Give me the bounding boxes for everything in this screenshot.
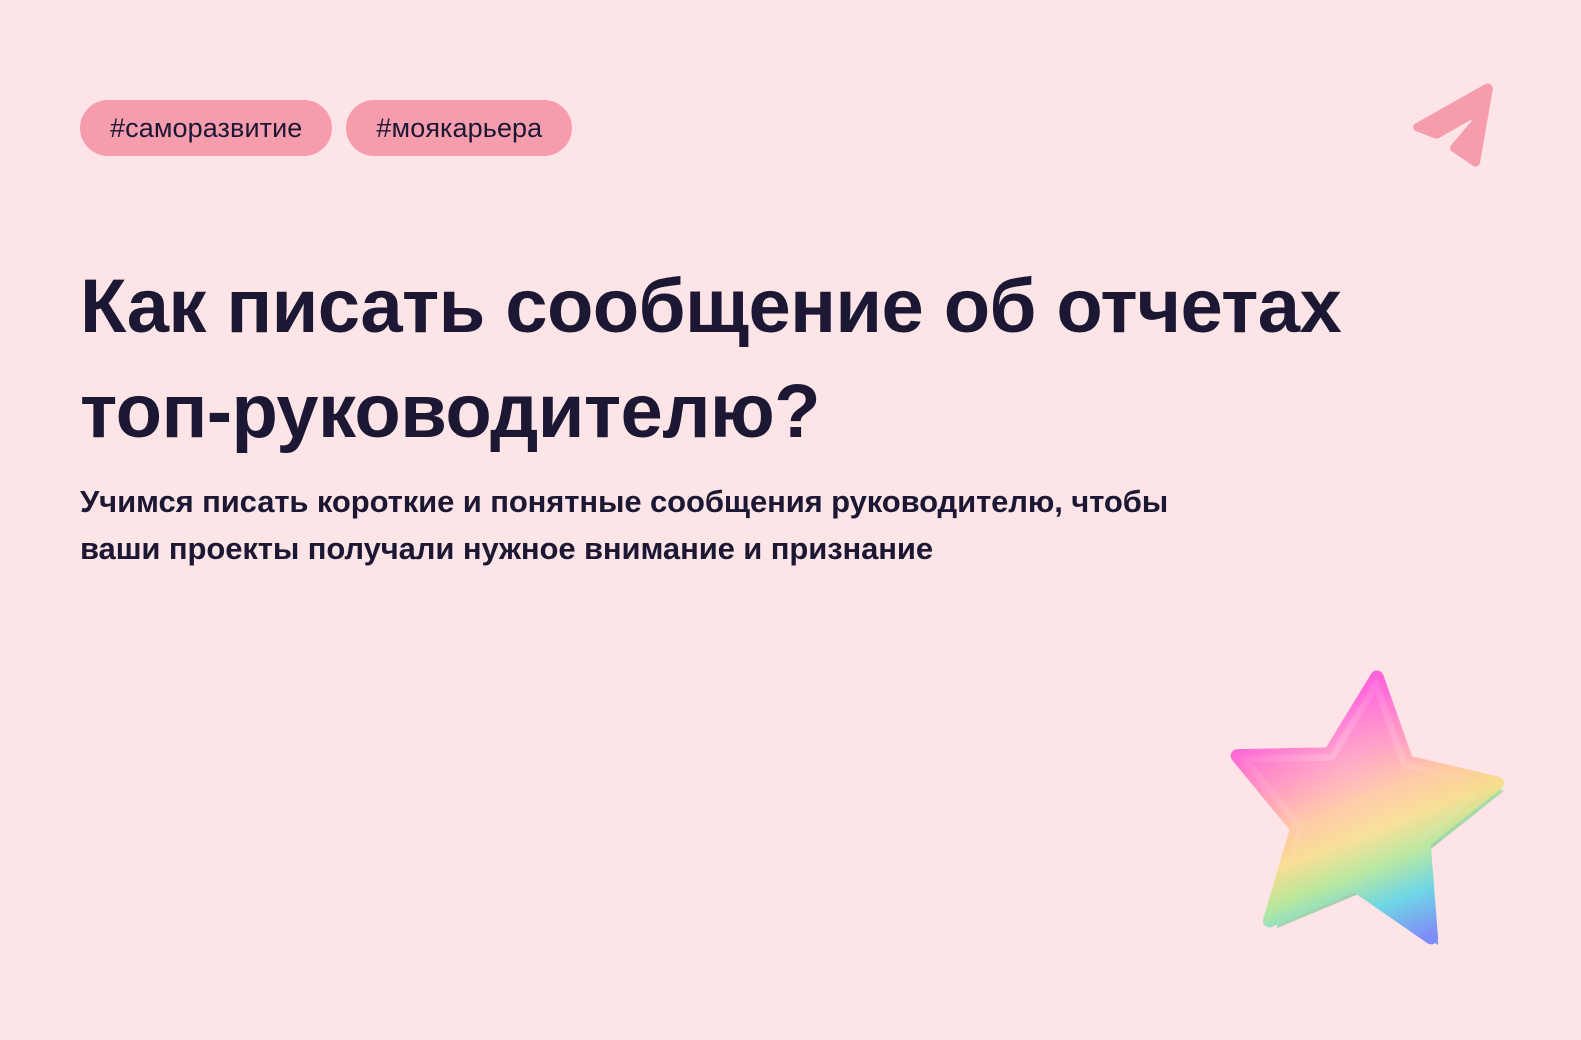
title-line-1: Как писать сообщение об отчетах — [80, 264, 1341, 349]
title-line-2: топ-руководителю? — [80, 369, 820, 454]
page-title: Как писать сообщение об отчетах топ-руко… — [80, 255, 1480, 465]
tag-list: #саморазвитие #моякарьера — [80, 100, 572, 156]
telegram-plane-icon[interactable] — [1397, 80, 1493, 172]
gradient-star-icon — [1218, 663, 1508, 953]
subtitle-line-1: Учимся писать короткие и понятные сообще… — [80, 484, 1168, 519]
tag-samorazvitie[interactable]: #саморазвитие — [80, 100, 332, 156]
social-card: #саморазвитие #моякарьера Как писать соо… — [0, 0, 1581, 1040]
subtitle-line-2: ваши проекты получали нужное внимание и … — [80, 531, 933, 566]
page-subtitle: Учимся писать короткие и понятные сообще… — [80, 478, 1500, 572]
tag-moyakarera[interactable]: #моякарьера — [346, 100, 572, 156]
